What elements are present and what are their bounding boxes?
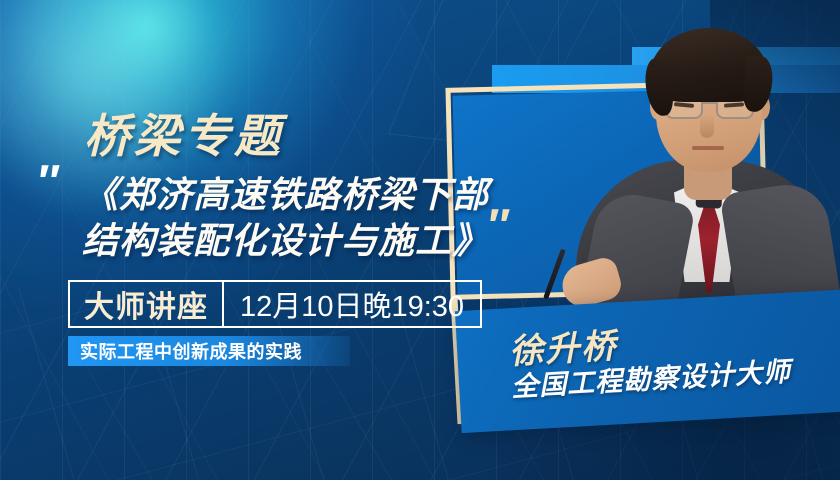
quote-close-icon: ″ <box>486 212 504 240</box>
topic-kicker: 桥梁专题 <box>84 100 284 166</box>
quote-open-icon: ″ <box>36 168 54 196</box>
subtitle-text: 实际工程中创新成果的实践 <box>80 338 302 364</box>
book-title-line-1: 《郑济高速铁路桥梁下部 <box>82 172 512 218</box>
book-title-line-2: 结构装配化设计与施工》 <box>82 218 512 264</box>
nose <box>700 114 714 138</box>
lecture-date-box: 大师讲座 12月10日晚19:30 <box>68 280 482 328</box>
speaker-photo <box>570 10 838 310</box>
lecture-type-label: 大师讲座 <box>70 282 222 326</box>
eyeglasses-bridge <box>703 102 716 104</box>
book-title: 《郑济高速铁路桥梁下部 结构装配化设计与施工》 <box>82 172 512 264</box>
subtitle-band: 实际工程中创新成果的实践 <box>68 336 350 366</box>
mouth <box>692 146 724 150</box>
headline-block: 桥梁专题 ″ 《郑济高速铁路桥梁下部 结构装配化设计与施工》 ″ 大师讲座 12… <box>0 0 520 480</box>
lecture-poster: 徐升桥 全国工程勘察设计大师 桥梁专题 ″ 《郑济高速铁路桥梁下部 结构装配化设… <box>0 0 840 480</box>
lecture-datetime: 12月10日晚19:30 <box>224 283 480 325</box>
